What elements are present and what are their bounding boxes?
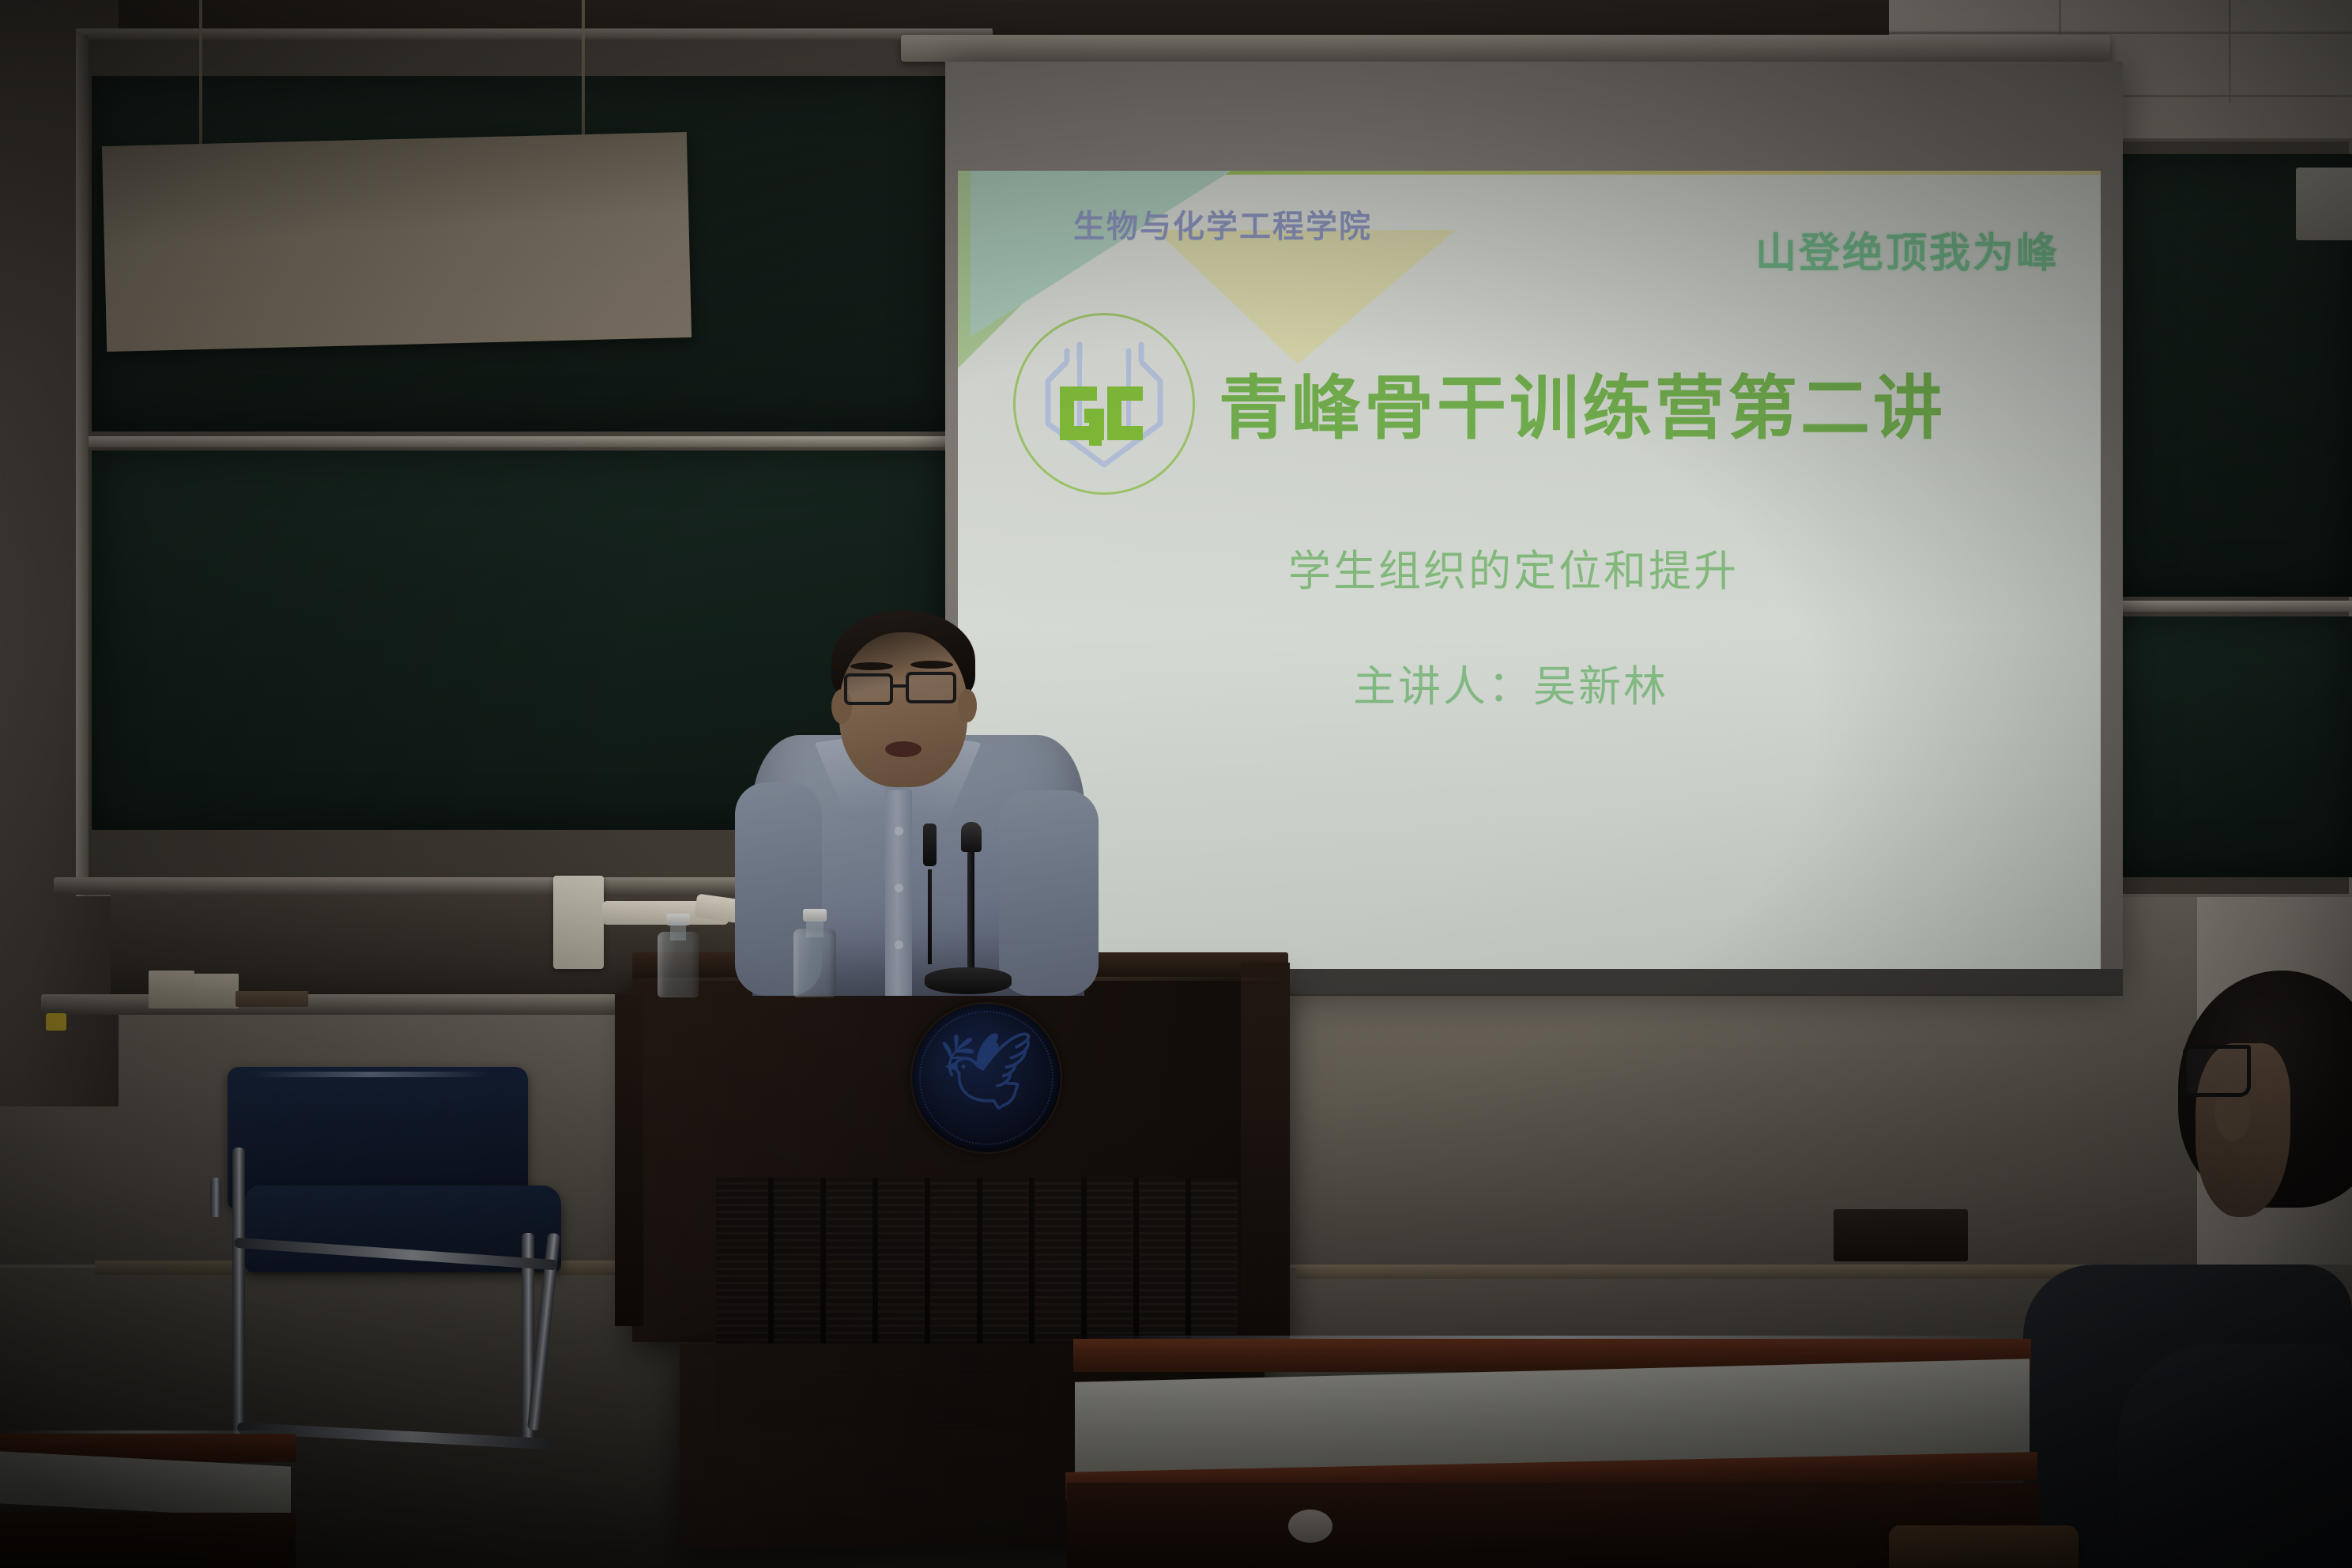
blackboard-top-rail	[76, 28, 993, 40]
chalk-box-1	[149, 971, 194, 1008]
podium-right-side	[1241, 963, 1290, 1342]
shirt-button	[895, 884, 903, 892]
water-bottle-right[interactable]	[793, 909, 836, 997]
slide-slogan: 山登绝顶我为峰	[1755, 220, 2060, 279]
projector-mount-plate	[553, 876, 604, 969]
blackboard-mid-rail	[87, 436, 972, 447]
lecture-hall-photo: 生物与化学工程学院 山登绝顶我为峰 GC 青峰骨干训练营第二讲 学生组织的定位和…	[0, 0, 2352, 1568]
blackboard-eraser	[236, 991, 308, 1007]
speaker-mouth	[885, 741, 922, 757]
baseboard-right	[1296, 1265, 2165, 1279]
logo-shield-icon	[1013, 313, 1195, 495]
chalk-box-2	[194, 974, 239, 1008]
chair-leg-front-left	[232, 1148, 245, 1448]
desk-front-panel	[0, 1513, 296, 1568]
crest-bird-icon: 🕊	[938, 1034, 1035, 1110]
water-bottle-left[interactable]	[658, 914, 699, 997]
chair-back-post-left	[210, 1178, 221, 1217]
speaker-glasses-bridge	[891, 684, 907, 688]
yellow-marker-chip	[46, 1013, 66, 1031]
blackboard-left-rail	[76, 35, 89, 896]
slide-presenter: 主讲人：吴新林	[1353, 651, 1668, 714]
audience-member-shoulder	[2118, 1344, 2352, 1568]
bottle-body	[793, 929, 836, 997]
blackboard-right-rail	[2086, 601, 2352, 612]
chair-backrest-foreground	[1889, 1525, 2079, 1568]
bottle-body	[658, 932, 699, 997]
notice-paper-right	[2296, 168, 2352, 240]
lapel-microphone	[923, 824, 937, 866]
speaker-ear-right	[958, 689, 977, 722]
desk-left	[0, 1430, 316, 1568]
blackboard-panel-right-lower	[2096, 616, 2352, 877]
speaker-right-arm	[999, 790, 1099, 996]
shirt-button	[895, 827, 903, 835]
speaker-eyebrow-left	[850, 662, 893, 670]
hanging-banner	[102, 132, 692, 352]
podium-left-side	[615, 994, 643, 1326]
equipment-box-on-ledge	[1834, 1209, 1968, 1261]
speaker-glasses-lens-right	[906, 672, 956, 703]
projection-screen-roller	[901, 35, 2110, 62]
audience-member-glasses	[2183, 1045, 2251, 1097]
speaker-shirt-placket	[885, 790, 912, 996]
podium-university-crest: 🕊	[910, 1002, 1062, 1154]
gc-logo: GC	[1013, 313, 1195, 495]
microphone-head[interactable]	[961, 822, 982, 852]
slide-department-name: 生物与化学工程学院	[1073, 201, 1372, 247]
slide-subtitle: 学生组织的定位和提升	[1288, 536, 1739, 598]
microphone-stem[interactable]	[967, 838, 974, 988]
projected-slide: 生物与化学工程学院 山登绝顶我为峰 GC 青峰骨干训练营第二讲 学生组织的定位和…	[958, 171, 2101, 969]
speaker-eyebrow-right	[910, 661, 953, 669]
chair-backrest-highlight	[251, 1072, 488, 1077]
speaker-glasses-lens-left	[844, 673, 893, 705]
microphone-base	[925, 967, 1012, 994]
desk-right	[1051, 1336, 2031, 1568]
slide-title: 青峰骨干训练营第二讲	[1219, 352, 1946, 453]
lapel-mic-wire	[928, 869, 932, 964]
shirt-button	[895, 940, 903, 949]
tissue-on-desk	[1288, 1510, 1332, 1543]
decor-triangle-yellow	[1155, 230, 1456, 364]
speaker-head	[839, 632, 967, 787]
